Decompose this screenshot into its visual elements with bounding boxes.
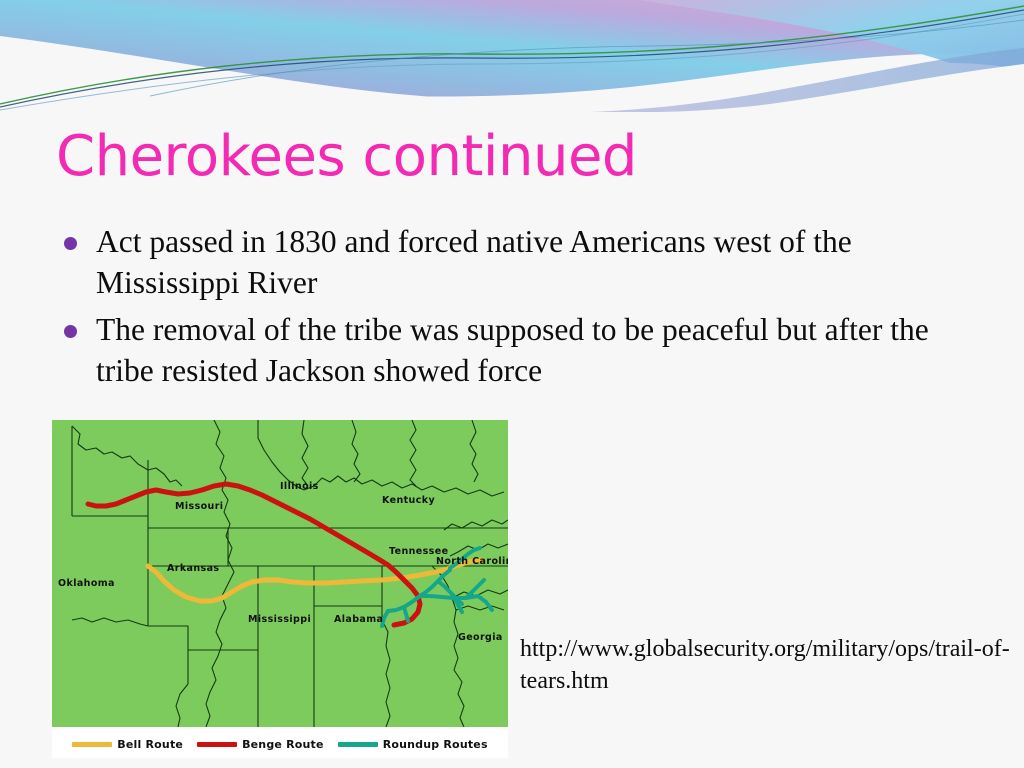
bullet-list: Act passed in 1830 and forced native Ame…: [56, 222, 991, 398]
list-item: The removal of the tribe was supposed to…: [56, 310, 991, 392]
page-title: Cherokees continued: [56, 128, 956, 187]
map-label-georgia: Georgia: [458, 632, 503, 643]
list-item: Act passed in 1830 and forced native Ame…: [56, 222, 991, 304]
map-label-north-carolina: North Carolina: [436, 556, 508, 567]
legend-label: Roundup Routes: [383, 738, 488, 751]
legend-swatch-icon: [72, 742, 112, 747]
bullet-text: The removal of the tribe was supposed to…: [96, 312, 929, 388]
map-label-missouri: Missouri: [175, 501, 223, 512]
legend-label: Bell Route: [117, 738, 183, 751]
bullet-marker-icon: [64, 237, 77, 250]
legend-swatch-icon: [197, 742, 237, 747]
bullet-text: Act passed in 1830 and forced native Ame…: [96, 224, 852, 300]
trail-of-tears-map-figure: Illinois Kentucky Missouri Tennessee Ark…: [52, 420, 508, 758]
map-legend: Bell Route Benge Route Roundup Routes: [52, 730, 508, 758]
map-label-oklahoma: Oklahoma: [58, 578, 115, 589]
source-url-text: http://www.globalsecurity.org/military/o…: [520, 634, 1012, 698]
legend-entry-roundup-routes: Roundup Routes: [338, 738, 488, 751]
map-label-kentucky: Kentucky: [382, 495, 435, 506]
legend-entry-benge-route: Benge Route: [197, 738, 324, 751]
header-decoration: [0, 0, 1024, 112]
legend-swatch-icon: [338, 742, 378, 747]
legend-entry-bell-route: Bell Route: [72, 738, 183, 751]
map-label-illinois: Illinois: [280, 481, 319, 492]
map-label-mississippi: Mississippi: [248, 614, 311, 625]
map-label-arkansas: Arkansas: [167, 563, 219, 574]
bullet-marker-icon: [64, 325, 77, 338]
legend-label: Benge Route: [242, 738, 324, 751]
map-canvas: Illinois Kentucky Missouri Tennessee Ark…: [52, 420, 508, 727]
map-label-alabama: Alabama: [334, 614, 383, 625]
